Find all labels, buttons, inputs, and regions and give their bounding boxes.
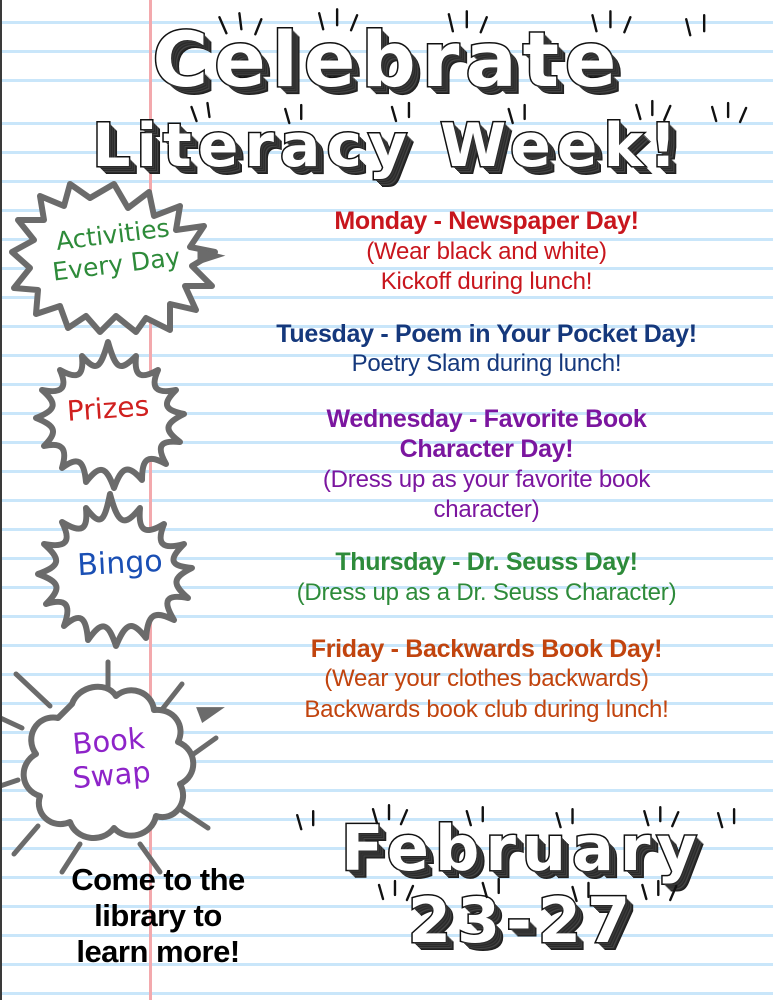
badge-book-swap: Book Swap: [10, 676, 210, 866]
date-range-label: 23-27: [302, 890, 742, 952]
day-title-friday: Friday - Backwards Book Day!: [198, 634, 773, 665]
day-sub-friday-2: Backwards book club during lunch!: [198, 695, 773, 725]
date-month-label: February: [272, 818, 772, 880]
badge-bingo: Bingo: [14, 486, 214, 656]
title-line-celebrate: Celebrate: [2, 22, 773, 98]
day-entry-wednesday: Wednesday - Favorite Book Character Day!…: [198, 404, 773, 525]
day-sub-thursday-1: (Dress up as a Dr. Seuss Character): [198, 578, 773, 608]
day-sub-monday-2: Kickoff during lunch!: [198, 267, 773, 297]
badge-book-swap-label: Book Swap: [7, 715, 212, 801]
day-entry-friday: Friday - Backwards Book Day! (Wear your …: [198, 634, 773, 725]
day-title-thursday: Thursday - Dr. Seuss Day!: [198, 547, 773, 578]
title-line-literacy-week: Literacy Week!: [2, 116, 773, 176]
notebook-margin-line: [149, 0, 152, 1000]
badge-activities-every-day: Activities Every Day: [12, 182, 217, 332]
badge-prizes: Prizes: [8, 330, 208, 500]
day-sub-monday-1: (Wear black and white): [198, 237, 773, 267]
day-sub-tuesday-1: Poetry Slam during lunch!: [198, 349, 773, 379]
badge-activities-label: Activities Every Day: [9, 208, 220, 292]
day-title-wednesday: Wednesday - Favorite Book Character Day!: [198, 404, 773, 465]
footer-call-to-action: Come to the library to learn more!: [24, 862, 292, 970]
day-sub-friday-1: (Wear your clothes backwards): [198, 664, 773, 694]
day-schedule-list: Monday - Newspaper Day! (Wear black and …: [198, 206, 773, 741]
day-sub-wednesday-1: (Dress up as your favorite book: [198, 465, 773, 495]
badge-bingo-label: Bingo: [19, 541, 221, 587]
day-title-tuesday: Tuesday - Poem in Your Pocket Day!: [198, 319, 773, 350]
day-entry-monday: Monday - Newspaper Day! (Wear black and …: [198, 206, 773, 297]
day-entry-tuesday: Tuesday - Poem in Your Pocket Day! Poetr…: [198, 319, 773, 380]
day-sub-wednesday-2: character): [198, 495, 773, 525]
day-entry-thursday: Thursday - Dr. Seuss Day! (Dress up as a…: [198, 547, 773, 608]
badge-prizes-label: Prizes: [7, 385, 209, 432]
literacy-week-poster: Celebrate Literacy Week! Activities Ever…: [0, 0, 773, 1000]
day-title-monday: Monday - Newspaper Day!: [198, 206, 773, 237]
